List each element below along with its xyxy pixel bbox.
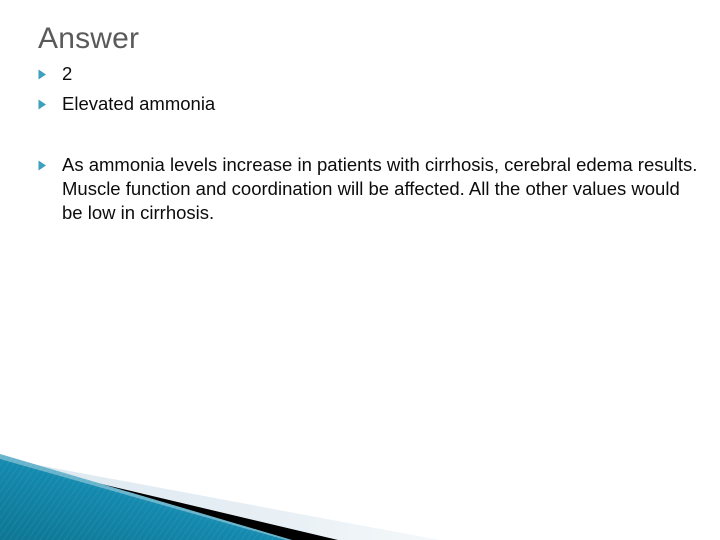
list-item-label: As ammonia levels increase in patients w… — [62, 153, 698, 224]
triangle-bullet-icon — [38, 62, 62, 80]
slide: Answer 2 Elevated ammonia — [0, 0, 720, 540]
list-item: Elevated ammonia — [38, 92, 698, 116]
list-item: 2 — [38, 62, 698, 86]
triangle-bullet-icon — [38, 153, 62, 171]
slide-body: 2 Elevated ammonia As ammonia levels inc… — [38, 62, 698, 230]
diagonal-banner-decoration — [0, 448, 720, 540]
list-item-label: 2 — [62, 62, 698, 86]
list-item: As ammonia levels increase in patients w… — [38, 153, 698, 224]
page-title: Answer — [38, 22, 139, 55]
triangle-bullet-icon — [38, 92, 62, 110]
list-item-label: Elevated ammonia — [62, 92, 698, 116]
